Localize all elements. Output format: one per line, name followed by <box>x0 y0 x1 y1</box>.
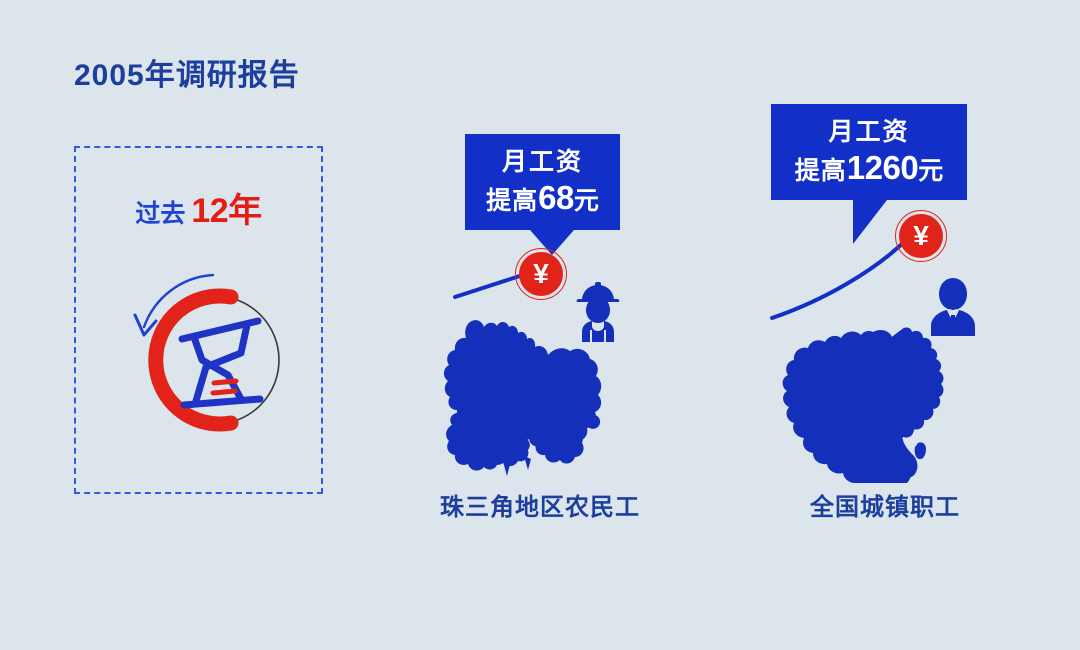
yen-symbol-icon: ¥ <box>899 214 943 258</box>
infographic-canvas: 2005年调研报告 过去12年 <box>0 0 1080 650</box>
bubble-line2: 提高68元 <box>483 179 602 217</box>
past-years-label: 过去 <box>135 200 185 228</box>
caption-prd-migrant-workers: 珠三角地区农民工 <box>390 487 690 522</box>
bubble-prefix: 提高 <box>486 187 538 215</box>
yen-symbol-icon: ¥ <box>519 252 563 296</box>
bubble-line1: 月工资 <box>483 148 602 177</box>
bubble-tail-2 <box>853 200 887 244</box>
column-prd-migrant-workers: 月工资 提高68元 ¥ <box>390 0 690 650</box>
bubble-prefix: 提高 <box>795 157 847 185</box>
hourglass-icon <box>110 255 310 455</box>
construction-worker-icon <box>570 282 626 342</box>
yen-badge-1: ¥ <box>515 248 567 300</box>
caption-national-urban-workers: 全国城镇职工 <box>735 487 1035 522</box>
salary-bubble-2: 月工资 提高1260元 <box>771 104 967 200</box>
yen-badge-2: ¥ <box>895 210 947 262</box>
bubble-line1: 月工资 <box>789 118 949 147</box>
bubble-unit: 元 <box>574 187 599 215</box>
office-worker-icon <box>925 276 981 336</box>
bubble-line2: 提高1260元 <box>789 149 949 187</box>
bubble-unit: 元 <box>918 157 943 185</box>
salary-bubble-1: 月工资 提高68元 <box>465 134 620 230</box>
bubble-amount: 1260 <box>847 149 918 186</box>
bubble-amount: 68 <box>538 179 574 216</box>
china-national-map <box>755 310 965 485</box>
column-national-urban-workers: 月工资 提高1260元 ¥ <box>735 0 1035 650</box>
page-title: 2005年调研报告 <box>74 50 300 94</box>
past-years-heading: 过去12年 <box>74 183 323 232</box>
past-years-value: 12年 <box>191 192 261 230</box>
